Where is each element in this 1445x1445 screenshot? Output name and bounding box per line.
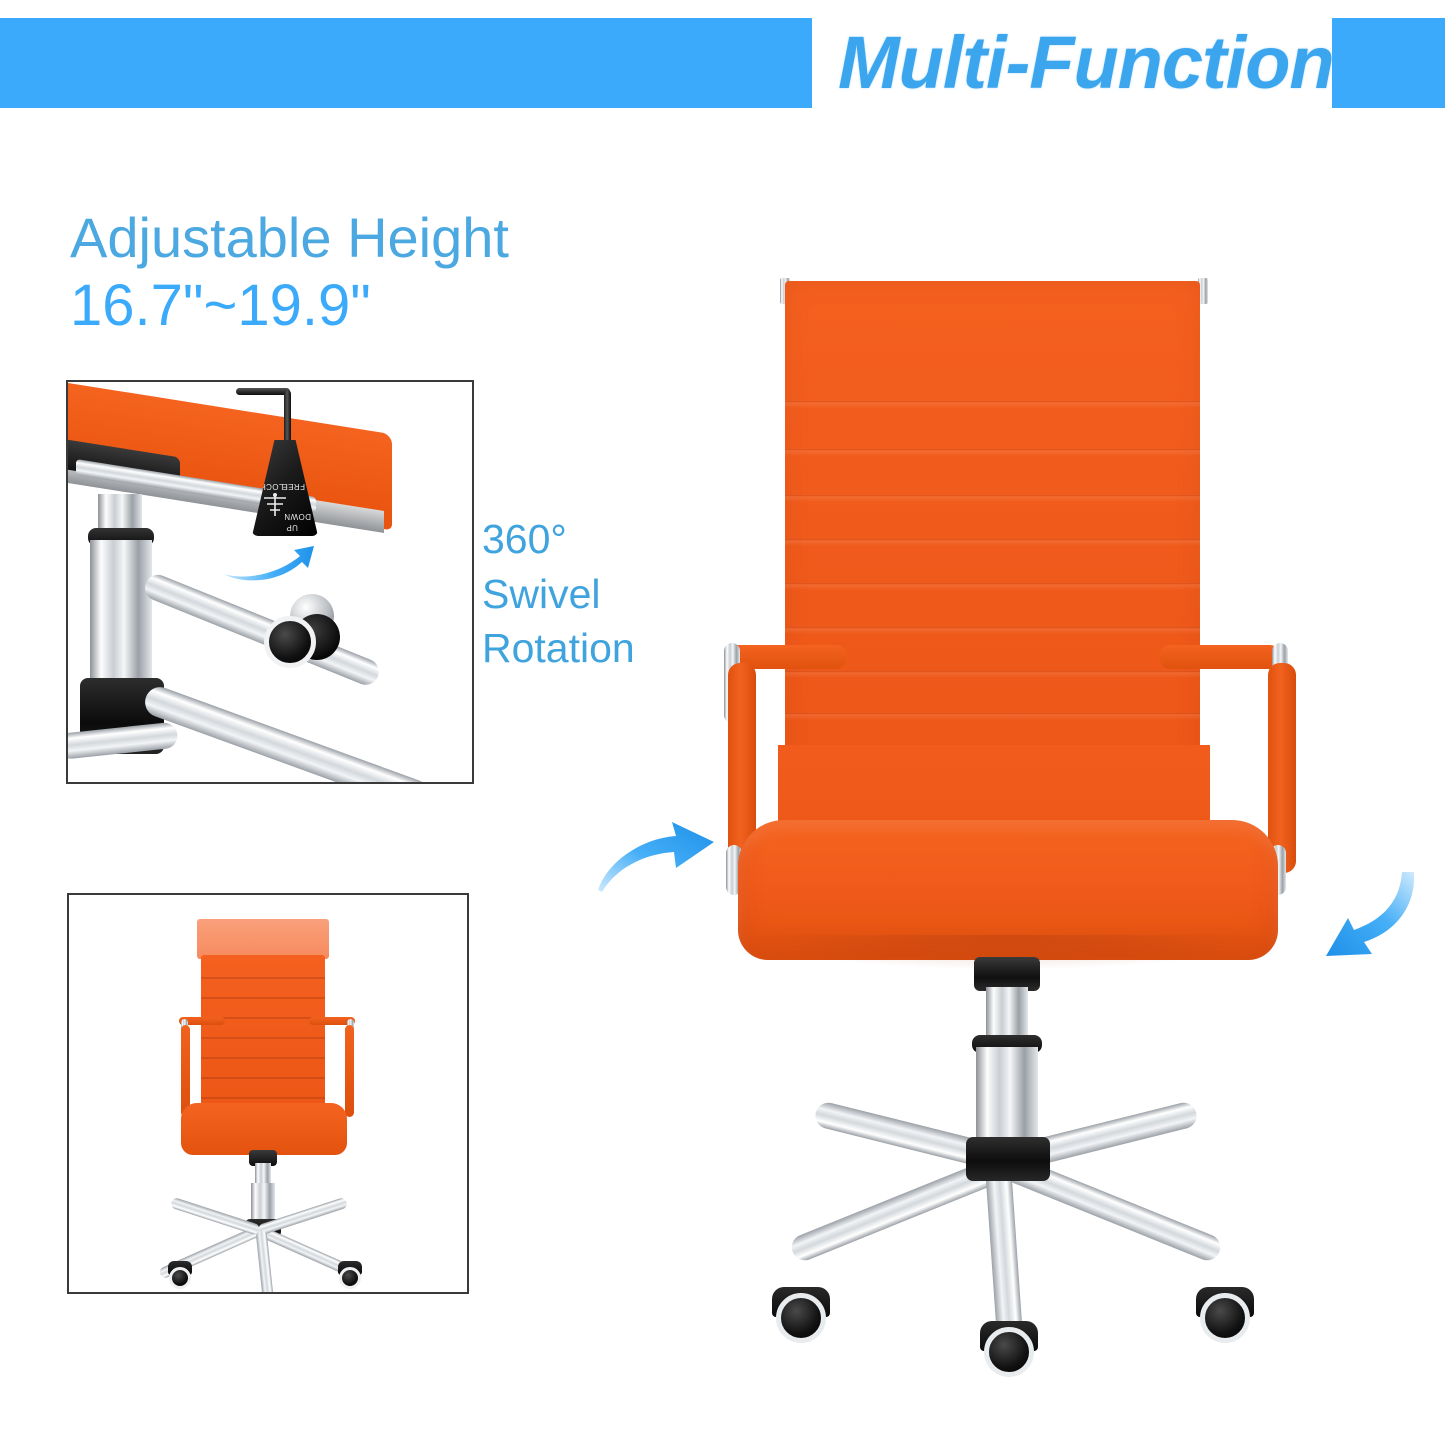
- fv-leg-4: [170, 1197, 261, 1236]
- chair-front-view-illustration: [69, 895, 467, 1292]
- fv-gas-rod: [255, 1163, 271, 1185]
- lever-arm-vertical: [284, 390, 291, 446]
- header-bar-left: [0, 18, 812, 108]
- backrest: [785, 281, 1200, 776]
- fv-backrest: [201, 955, 325, 1115]
- inset-gas-cylinder: [90, 540, 152, 690]
- fv-caster-left: [167, 1261, 193, 1289]
- header-bar-right: [1332, 18, 1445, 108]
- caster-right-front: [1194, 1287, 1256, 1349]
- base-leg-front: [985, 1165, 1023, 1342]
- gas-lift-collar: [974, 957, 1040, 991]
- base-center-hub: [966, 1137, 1050, 1181]
- armrest-right: [1268, 663, 1296, 873]
- height-range-value: 16.7"~19.9": [70, 272, 371, 339]
- fv-arm-right: [345, 1025, 354, 1117]
- fv-caster-front: [249, 1293, 275, 1294]
- fv-caster-right: [337, 1261, 363, 1289]
- infographic-canvas: Multi-Function Adjustable Height 16.7"~1…: [0, 0, 1445, 1445]
- rotation-arrow-right-icon: [1292, 866, 1422, 970]
- inset-caster: [264, 592, 340, 668]
- gas-lift-lever-illustration: LOCK FREE DOWN UP: [68, 382, 472, 782]
- fv-arm-left: [181, 1025, 190, 1117]
- inset-base-leg-upper: [141, 571, 383, 689]
- page-title: Multi-Function: [838, 12, 1338, 112]
- chair-front-view-photo: [67, 893, 469, 1294]
- inset-base-leg-right: [141, 683, 433, 784]
- fv-headrest: [197, 919, 329, 959]
- armrest-pad-right: [1160, 645, 1280, 669]
- lever-label-free: FREE: [282, 482, 305, 491]
- gas-lift-lever-photo: LOCK FREE DOWN UP: [66, 380, 474, 784]
- lever-pictogram-icon: [258, 492, 292, 518]
- lever-arm-horizontal: [236, 388, 290, 395]
- caster-front: [978, 1321, 1040, 1383]
- inset-caster-wheel: [264, 616, 316, 668]
- swivel-arrow-icon: [220, 530, 316, 582]
- rotation-arrow-left-icon: [592, 812, 720, 898]
- caster-left-front: [770, 1287, 832, 1349]
- fv-seat: [181, 1103, 347, 1155]
- adjustable-height-label: Adjustable Height: [70, 205, 509, 270]
- main-product-image: [600, 245, 1430, 1385]
